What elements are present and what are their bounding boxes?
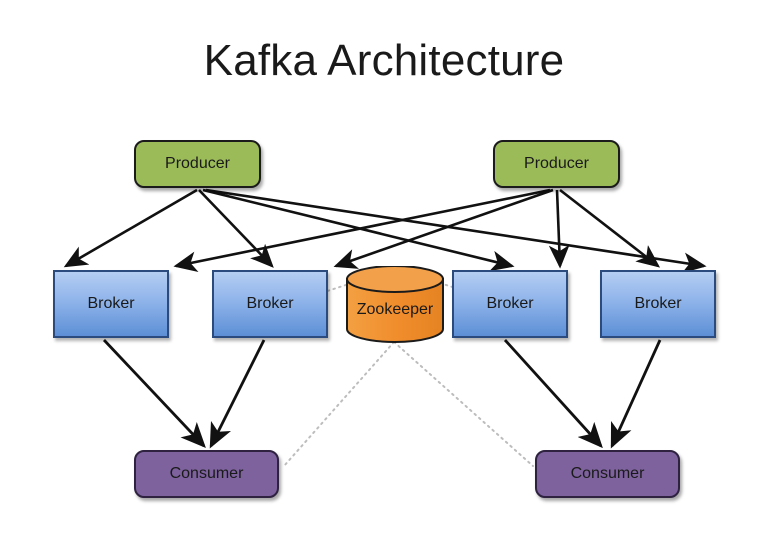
producer-to-broker-edges — [66, 190, 704, 266]
broker-3-label: Broker — [486, 295, 533, 313]
edge-producer2-broker4 — [560, 190, 658, 266]
edge-producer1-broker4 — [206, 190, 704, 266]
node-consumer-1[interactable]: Consumer — [134, 450, 279, 498]
edge-zookeeper-consumer2 — [394, 342, 533, 466]
node-zookeeper[interactable]: Zookeeper — [345, 266, 445, 346]
edge-zookeeper-consumer1 — [284, 342, 394, 466]
zookeeper-label: Zookeeper — [345, 266, 445, 346]
consumer-1-label: Consumer — [170, 465, 244, 483]
edge-producer1-broker2 — [199, 190, 272, 266]
consumer-2-label: Consumer — [571, 465, 645, 483]
page-title: Kafka Architecture — [0, 36, 768, 86]
node-producer-1[interactable]: Producer — [134, 140, 261, 188]
broker-2-label: Broker — [246, 295, 293, 313]
producer-2-label: Producer — [524, 155, 589, 173]
edge-broker3-consumer2 — [505, 340, 601, 446]
node-broker-3[interactable]: Broker — [452, 270, 568, 338]
broker-to-consumer-edges — [104, 340, 660, 446]
edge-producer2-broker2 — [336, 190, 553, 266]
edge-producer2-broker3 — [557, 190, 560, 266]
edge-broker1-consumer1 — [104, 340, 204, 446]
node-consumer-2[interactable]: Consumer — [535, 450, 680, 498]
broker-1-label: Broker — [87, 295, 134, 313]
diagram-canvas: Kafka Architecture — [0, 0, 768, 554]
node-producer-2[interactable]: Producer — [493, 140, 620, 188]
node-broker-2[interactable]: Broker — [212, 270, 328, 338]
edge-producer1-broker3 — [203, 190, 512, 266]
edge-broker2-consumer1 — [211, 340, 264, 446]
producer-1-label: Producer — [165, 155, 230, 173]
node-broker-4[interactable]: Broker — [600, 270, 716, 338]
edge-producer1-broker1 — [66, 190, 197, 266]
edge-producer2-broker1 — [176, 190, 550, 266]
broker-4-label: Broker — [634, 295, 681, 313]
node-broker-1[interactable]: Broker — [53, 270, 169, 338]
edge-broker4-consumer2 — [612, 340, 660, 446]
